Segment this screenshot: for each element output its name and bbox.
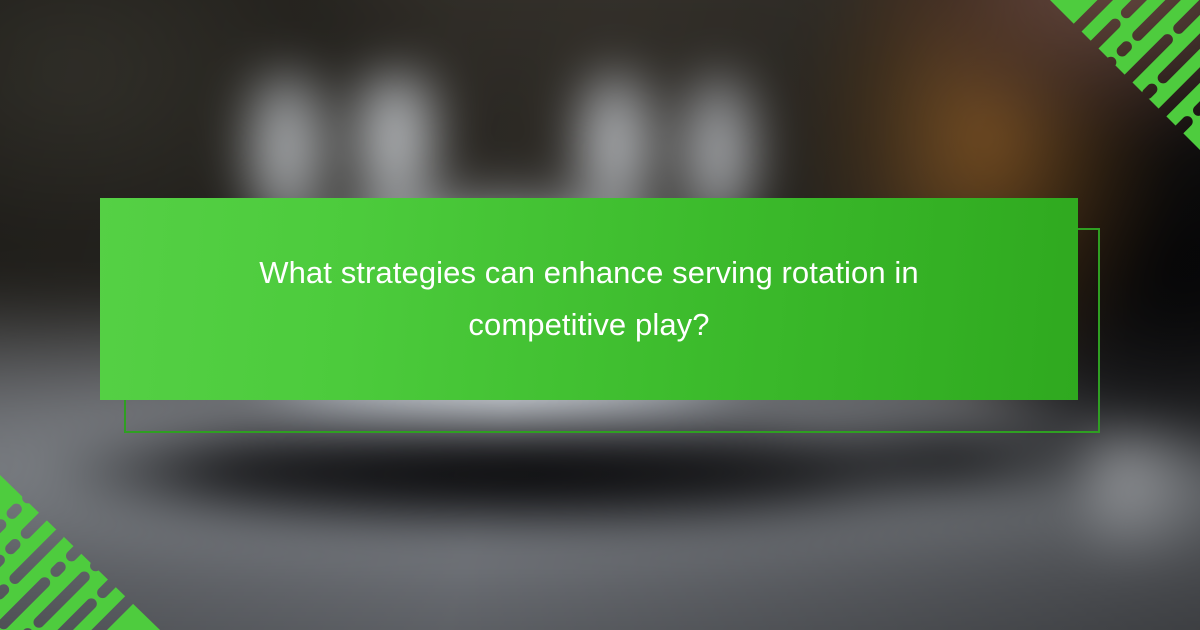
promo-banner: What strategies can enhance serving rota…	[0, 0, 1200, 630]
headline-panel: What strategies can enhance serving rota…	[100, 198, 1078, 400]
page-title: What strategies can enhance serving rota…	[259, 247, 919, 351]
